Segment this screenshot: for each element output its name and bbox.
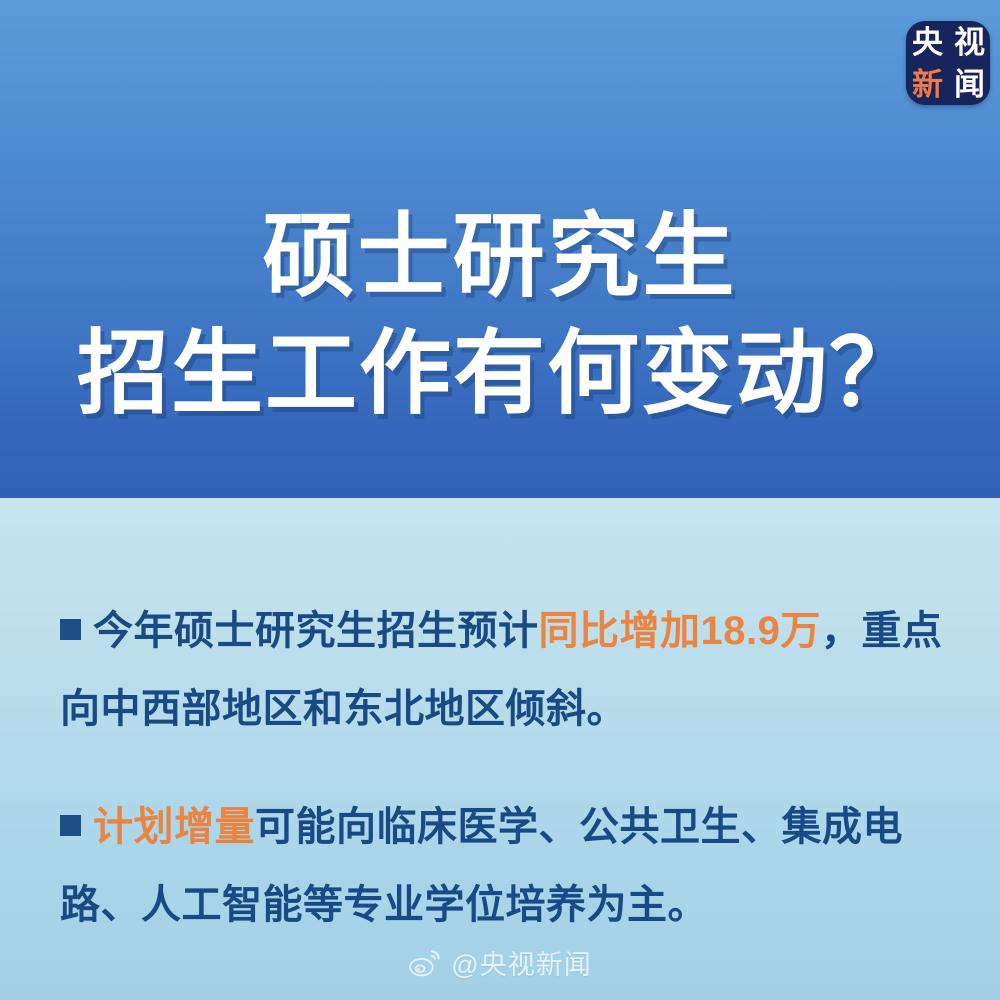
logo-char-shi: 视 xyxy=(954,27,984,58)
bullet-square-icon xyxy=(60,619,81,640)
weibo-icon xyxy=(408,948,442,978)
bullet-list: 今年硕士研究生招生预计同比增加18.9万，重点向中西部地区和东北地区倾斜。 计划… xyxy=(60,552,950,984)
page-title: 硕士研究生 招生工作有何变动？ xyxy=(0,206,1000,426)
weibo-handle: @央视新闻 xyxy=(451,943,591,982)
bullet-2-highlight: 计划增量 xyxy=(93,805,255,849)
bullet-item-1: 今年硕士研究生招生预计同比增加18.9万，重点向中西部地区和东北地区倾斜。 xyxy=(60,592,950,748)
bullet-square-icon xyxy=(60,815,81,836)
bullet-1-segment-1: 今年硕士研究生招生预计 xyxy=(93,609,539,653)
bullet-1-highlight: 同比增加18.9万 xyxy=(539,609,821,653)
title-line-2: 招生工作有何变动？ xyxy=(0,323,1000,426)
header-band: 央 视 新 闻 硕士研究生 招生工作有何变动？ xyxy=(0,0,1000,498)
logo-char-xin: 新 xyxy=(912,69,942,100)
logo-char-yang: 央 xyxy=(912,27,942,58)
logo-character-grid: 央 视 新 闻 xyxy=(906,21,990,105)
bullet-item-2: 计划增量可能向临床医学、公共卫生、集成电路、人工智能等专业学位培养为主。 xyxy=(60,788,950,944)
cctv-news-logo: 央 视 新 闻 xyxy=(906,21,990,105)
weibo-watermark: @央视新闻 xyxy=(0,943,1000,982)
title-line-1: 硕士研究生 xyxy=(0,206,1000,309)
body-band: 今年硕士研究生招生预计同比增加18.9万，重点向中西部地区和东北地区倾斜。 计划… xyxy=(0,498,1000,1000)
poster-root: 央 视 新 闻 硕士研究生 招生工作有何变动？ 今年硕士研究生招生预计同比增加1… xyxy=(0,0,1000,1000)
logo-char-wen: 闻 xyxy=(954,69,984,100)
